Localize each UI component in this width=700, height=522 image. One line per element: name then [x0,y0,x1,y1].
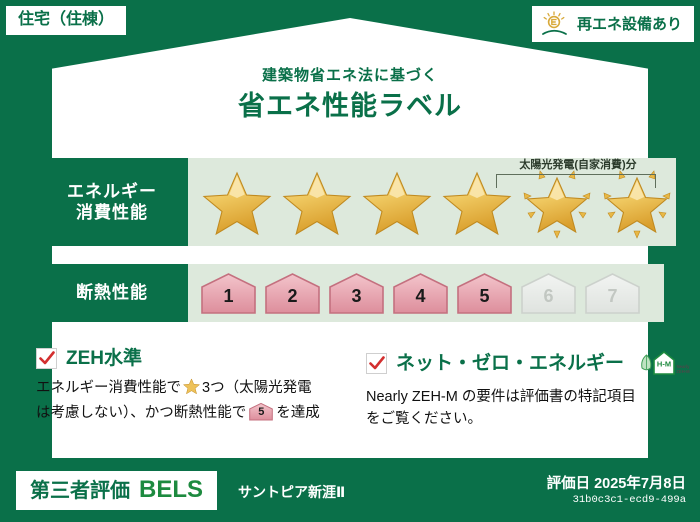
solar-sun-icon [540,11,570,37]
net-zero-energy-description: Nearly ZEH-M の要件は評価書の特記項目をご覧ください。 [366,386,650,431]
insulation-level-badge: 3 [326,271,387,315]
evaluation-id: 31b0c3c1-ecd9-499a [547,493,686,508]
building-type-chip: 住宅（住棟） [6,6,126,35]
bels-logo-text: BELS [139,478,203,502]
insulation-level-badge: 6 [518,271,579,315]
insulation-level-scale: 1 2 3 4 [198,271,643,315]
zeh-standard-section: ZEH水準 エネルギー消費性能で3つ（太陽光発電は考慮しない）、かつ断熱性能で5… [36,348,350,431]
renewable-equipment-label: 再エネ設備あり [577,17,682,32]
net-zero-energy-section: ネット・ゼロ・エネルギー H-M Nearly ZEH-M Nearly ZEH… [350,348,664,431]
energy-consumption-row: エネルギー 消費性能 太陽光発電(自家消費)分 [36,158,664,246]
star-icon [358,165,436,239]
insulation-row-body: 1 2 3 4 [188,264,664,322]
zeh-standard-header: ZEH水準 [36,348,336,369]
energy-label-line1: エネルギー [67,181,157,202]
energy-performance-label: 住宅（住棟） 再エネ設備あり 建築物省エネ法に基づく 省エネ性能ラベル エネルギ… [0,0,700,522]
energy-consumption-row-label: エネルギー 消費性能 [36,158,188,246]
third-party-eval-label: 第三者評価 [30,481,130,501]
inline-star-icon [182,377,201,402]
svg-text:H-M: H-M [657,360,671,369]
evaluation-date: 評価日 2025年7月8日 [547,476,686,493]
insulation-level-value: 3 [326,287,387,305]
star-icon [198,165,276,239]
checkmark-icon [36,348,57,369]
inline-house-value: 5 [248,407,274,418]
zeh-desc-stars: 3つ（太陽光発電 [202,380,312,396]
bels-certification-badge: 第三者評価 BELS [16,471,217,510]
property-name: サントピア新涯Ⅱ [238,485,345,499]
evaluation-date-value: 2025年7月8日 [594,476,686,492]
checkmark-icon [366,353,387,374]
insulation-level-badge: 4 [390,271,451,315]
label-title: 省エネ性能ラベル [0,84,700,123]
nearly-zeh-m-logo: H-M Nearly ZEH-M [639,348,691,378]
star-icon [278,165,356,239]
insulation-level-badge: 1 [198,271,259,315]
insulation-performance-row: 断熱性能 1 [36,264,664,322]
zeh-desc-part2: は考慮しない）、かつ断熱性能で [36,405,246,421]
insulation-level-value: 2 [262,287,323,305]
insulation-level-value: 7 [582,287,643,305]
insulation-level-value: 1 [198,287,259,305]
zeh-desc-part3: を達成 [276,405,320,421]
zeh-standard-description: エネルギー消費性能で3つ（太陽光発電は考慮しない）、かつ断熱性能で5を達成 [36,377,336,425]
zeh-standard-title: ZEH水準 [66,349,142,368]
energy-consumption-row-body: 太陽光発電(自家消費)分 [188,158,676,246]
solar-bracket [496,174,656,188]
label-subtitle: 建築物省エネ法に基づく [0,64,700,85]
insulation-level-value: 4 [390,287,451,305]
energy-label-line2: 消費性能 [76,202,148,223]
solar-bracket-label: 太陽光発電(自家消費)分 [478,156,678,172]
insulation-level-badge: 5 [454,271,515,315]
insulation-level-value: 6 [518,287,579,305]
criteria-sections: ZEH水準 エネルギー消費性能で3つ（太陽光発電は考慮しない）、かつ断熱性能で5… [36,348,664,431]
insulation-level-badge: 2 [262,271,323,315]
zeh-desc-part1: エネルギー消費性能で [36,380,181,396]
evaluation-date-label: 評価日 [547,476,591,492]
insulation-level-value: 5 [454,287,515,305]
net-zero-energy-header: ネット・ゼロ・エネルギー H-M Nearly ZEH-M [366,348,650,378]
insulation-row-label: 断熱性能 [36,264,188,322]
inline-insulation-house-icon: 5 [248,402,274,421]
svg-text:ZEH-M: ZEH-M [676,369,690,374]
renewable-equipment-badge: 再エネ設備あり [532,6,694,42]
insulation-level-badge: 7 [582,271,643,315]
net-zero-energy-title: ネット・ゼロ・エネルギー [396,354,624,373]
evaluation-info: 評価日 2025年7月8日 31b0c3c1-ecd9-499a [547,476,686,508]
